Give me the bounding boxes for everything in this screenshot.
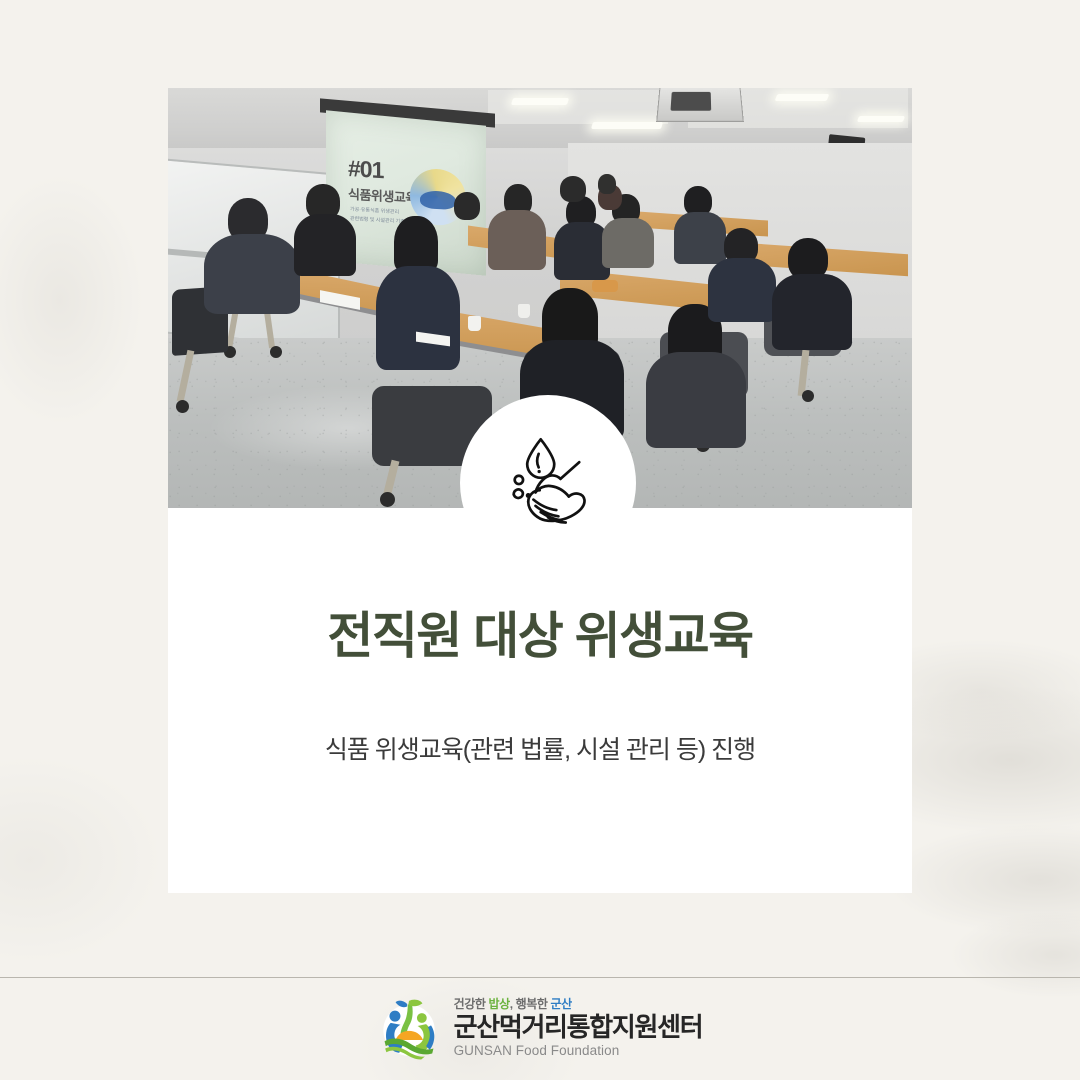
- organization-name-en: GUNSAN Food Foundation: [454, 1043, 703, 1059]
- ceiling-tile: [488, 90, 668, 124]
- person: [454, 192, 480, 220]
- hand-washing-icon: [496, 431, 600, 535]
- person: [294, 214, 356, 276]
- snack: [592, 280, 618, 292]
- logo-tagline: 건강한 밥상, 행복한 군산: [454, 998, 703, 1011]
- tagline-part-2: 밥상: [488, 997, 509, 1011]
- chair-caster: [176, 400, 189, 413]
- ceiling-light: [775, 94, 830, 101]
- person: [488, 210, 546, 270]
- tagline-part-1: 건강한: [454, 997, 489, 1011]
- paper-cup: [518, 304, 530, 318]
- person: [674, 212, 726, 264]
- chair-caster: [380, 492, 395, 507]
- person: [602, 218, 654, 268]
- content-card: #01 식품위생교육 가공·유통식품 위생관리 관련법령 및 시설관리 기준 안…: [168, 88, 912, 893]
- paper-cup: [468, 316, 481, 331]
- person: [772, 274, 852, 350]
- person: [708, 258, 776, 322]
- person: [646, 352, 746, 448]
- person: [376, 266, 460, 370]
- gunsan-food-foundation-logo-icon: [378, 996, 440, 1062]
- page-subtitle: 식품 위생교육(관련 법률, 시설 관리 등) 진행: [168, 730, 912, 766]
- slide-bullet: 가공·유통식품 위생관리: [350, 205, 399, 215]
- chair-caster: [802, 390, 814, 402]
- presenter: [598, 174, 616, 194]
- ceiling-projector-icon: [656, 88, 744, 122]
- ceiling-light: [591, 122, 663, 129]
- tagline-part-4: 군산: [550, 997, 571, 1011]
- organization-name-ko: 군산먹거리통합지원센터: [454, 1013, 703, 1043]
- tagline-part-3: , 행복한: [510, 997, 551, 1011]
- slide-number: #01: [348, 155, 383, 184]
- footer: 건강한 밥상, 행복한 군산 군산먹거리통합지원센터 GUNSAN Food F…: [0, 978, 1080, 1080]
- footer-logo-text: 건강한 밥상, 행복한 군산 군산먹거리통합지원센터 GUNSAN Food F…: [454, 998, 703, 1059]
- page-title: 전직원 대상 위생교육: [168, 608, 912, 666]
- hand-washing-badge: [460, 395, 636, 571]
- chair-caster: [270, 346, 282, 358]
- person: [560, 176, 586, 202]
- person: [204, 234, 300, 314]
- slide-title: 식품위생교육: [348, 184, 417, 207]
- person: [394, 216, 438, 272]
- ceiling-light: [857, 116, 905, 122]
- ceiling-light: [511, 98, 569, 105]
